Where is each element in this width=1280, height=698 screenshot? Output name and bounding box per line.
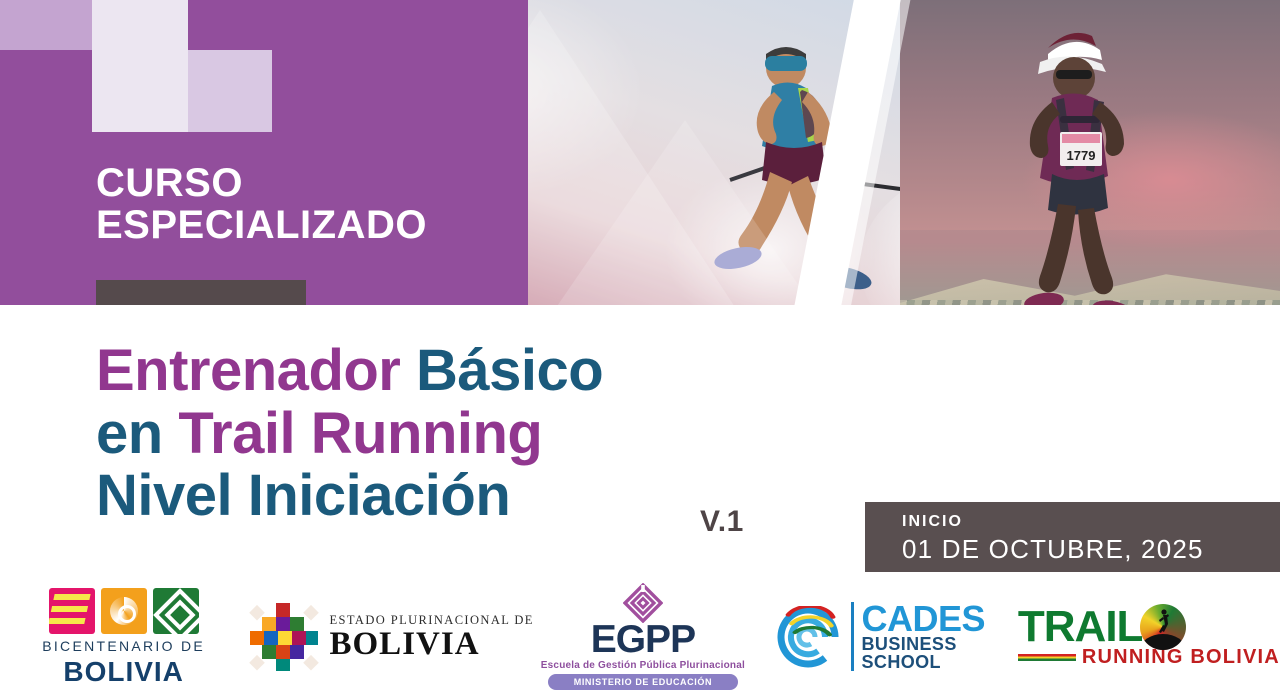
accent-bar bbox=[96, 280, 306, 305]
bolivia-flag-stripe bbox=[1018, 654, 1076, 661]
decor-square-top bbox=[92, 0, 188, 50]
title-line-3: Nivel Iniciación bbox=[96, 465, 603, 528]
egpp-acronym: EGPP bbox=[591, 621, 695, 658]
sponsor-logo-strip: BICENTENARIO DE BOLIVIA bbox=[0, 575, 1280, 698]
egpp-logo: EGPP Escuela de Gestión Pública Plurinac… bbox=[534, 575, 752, 698]
svg-text:1779: 1779 bbox=[1067, 148, 1096, 163]
trail-runner-orb-icon bbox=[1140, 604, 1186, 650]
estado-plurinacional-bolivia-logo: ESTADO PLURINACIONAL DE BOLIVIA bbox=[247, 575, 534, 698]
title-word-basico: Básico bbox=[416, 338, 603, 403]
course-promo-banner: 1779 bbox=[0, 0, 1280, 698]
title-line-1: Entrenador Básico bbox=[96, 340, 603, 403]
course-title: Entrenador Básico en Trail Running Nivel… bbox=[96, 340, 603, 528]
egpp-spiral-diamond-icon bbox=[623, 583, 663, 623]
version-label: V.1 bbox=[700, 505, 744, 539]
kicker-line-2: ESPECIALIZADO bbox=[96, 203, 427, 247]
runner-silhouette-two: 1779 bbox=[990, 20, 1170, 340]
bicentenario-weave-icon bbox=[49, 588, 95, 634]
kicker-line-1: CURSO bbox=[96, 161, 243, 205]
bicentenario-line-2: BOLIVIA bbox=[63, 658, 184, 686]
title-word-nivel-iniciacion: Nivel Iniciación bbox=[96, 463, 510, 528]
purple-header-block bbox=[0, 0, 528, 305]
trail-word: TRAIL bbox=[1018, 607, 1143, 647]
cades-line-1: CADES bbox=[862, 602, 986, 635]
runner-glyph-icon bbox=[1157, 609, 1170, 639]
start-date-label: INICIO bbox=[902, 511, 1280, 533]
title-word-entrenador: Entrenador bbox=[96, 338, 416, 403]
bicentenario-spiral-icon bbox=[101, 588, 147, 634]
start-date-box: INICIO 01 DE OCTUBRE, 2025 bbox=[865, 502, 1280, 572]
cades-text: CADES BUSINESS SCHOOL bbox=[851, 602, 986, 671]
cades-line-3: SCHOOL bbox=[862, 653, 986, 671]
course-kicker: CURSO ESPECIALIZADO bbox=[96, 162, 427, 246]
bicentenario-diamond-icon bbox=[153, 588, 199, 634]
chakana-mosaic-icon bbox=[248, 601, 320, 673]
bicentenario-icons bbox=[49, 588, 199, 634]
estado-line-2: BOLIVIA bbox=[330, 628, 534, 661]
trail-running-bolivia-logo: TRAIL RUNNING BOLIVIA bbox=[1004, 575, 1280, 698]
title-line-2: en Trail Running bbox=[96, 403, 603, 466]
cades-business-school-logo: CADES BUSINESS SCHOOL bbox=[752, 575, 1004, 698]
bicentenario-line-1: BICENTENARIO DE bbox=[42, 638, 205, 654]
egpp-ministry: MINISTERIO DE EDUCACIÓN bbox=[548, 674, 738, 690]
estado-plurinacional-text: ESTADO PLURINACIONAL DE BOLIVIA bbox=[330, 613, 534, 661]
title-word-trail-running: Trail Running bbox=[178, 401, 542, 466]
bicentenario-bolivia-logo: BICENTENARIO DE BOLIVIA bbox=[0, 575, 247, 698]
cades-c-arcs-icon bbox=[771, 606, 845, 668]
cades-line-2: BUSINESS bbox=[862, 635, 986, 653]
start-date-value: 01 DE OCTUBRE, 2025 bbox=[902, 533, 1280, 566]
trail-logo-top-row: TRAIL bbox=[1018, 604, 1187, 650]
decor-square-top-left bbox=[0, 0, 92, 50]
egpp-subtitle: Escuela de Gestión Pública Plurinacional bbox=[541, 660, 745, 671]
title-word-en: en bbox=[96, 401, 178, 466]
